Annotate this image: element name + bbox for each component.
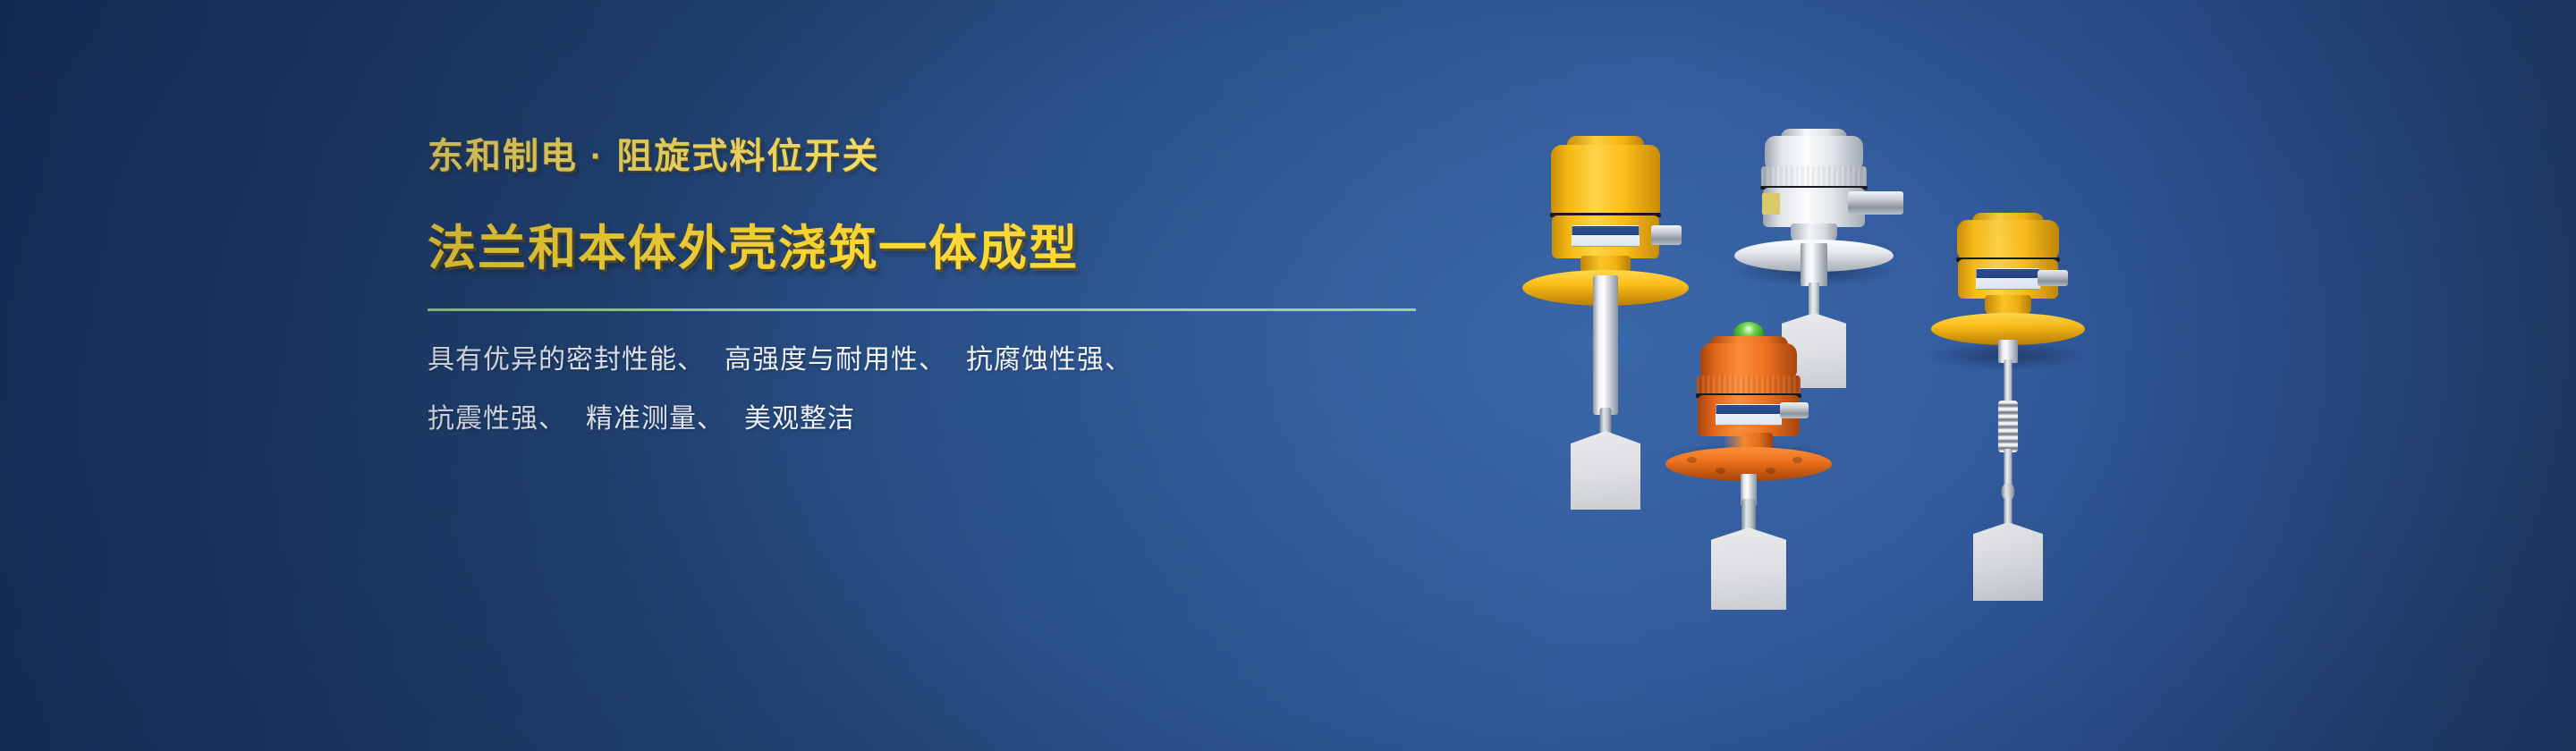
- flange-bolt-hole: [1766, 468, 1775, 474]
- banner-copy-block: 东和制电·阻旋式料位开关 法兰和本体外壳浇筑一体成型 具有优异的密封性能、高强度…: [428, 134, 1465, 433]
- feature-item-strength: 高强度与耐用性、: [724, 345, 946, 375]
- eyebrow-separator-dot: ·: [578, 137, 616, 176]
- housing-body: [1551, 145, 1660, 220]
- banner-feature-list: 具有优异的密封性能、高强度与耐用性、抗腐蚀性强、 抗震性强、精准测量、美观整洁: [428, 347, 1465, 433]
- measuring-paddle: [1973, 522, 2043, 601]
- suspension-cable-upper: [2004, 359, 2012, 406]
- shaft-coupler: [1600, 408, 1612, 435]
- extension-shaft: [1801, 243, 1827, 286]
- conduit-fitting: [1780, 402, 1809, 418]
- brand-name: 东和制电: [428, 137, 578, 176]
- product-rotary-paddle-switch-yellow-spring: [1905, 207, 2111, 690]
- housing-body: [1957, 220, 2059, 261]
- flange-bolt-hole: [1687, 457, 1697, 463]
- feature-item-corrosion: 抗腐蚀性强、: [966, 345, 1132, 375]
- feature-line-2: 抗震性强、精准测量、美观整洁: [428, 406, 1465, 433]
- nameplate-label: [1572, 225, 1640, 247]
- measuring-paddle: [1571, 431, 1640, 510]
- conduit-fitting: [1848, 191, 1903, 215]
- nameplate-label: [1716, 404, 1782, 426]
- product-image-cluster: [1467, 107, 2487, 644]
- headline-divider: [428, 308, 1416, 311]
- flange-bolt-hole: [1716, 468, 1725, 474]
- flange-bolt-hole: [1792, 457, 1802, 463]
- housing-ridge-ring: [1697, 375, 1801, 395]
- product-category-label: 阻旋式料位开关: [616, 137, 879, 176]
- banner-headline: 法兰和本体外壳浇筑一体成型: [428, 220, 1465, 278]
- feature-item-appearance: 美观整洁: [744, 404, 855, 434]
- feature-item-accuracy: 精准测量、: [586, 404, 724, 434]
- conduit-fitting: [2038, 270, 2068, 286]
- housing-ridge-texture: [1697, 375, 1801, 395]
- extension-shaft: [1593, 275, 1618, 415]
- feature-item-shock: 抗震性强、: [428, 404, 566, 434]
- measuring-paddle: [1711, 527, 1786, 610]
- nameplate-label: [1976, 268, 2040, 290]
- feature-line-1: 具有优异的密封性能、高强度与耐用性、抗腐蚀性强、: [428, 347, 1465, 374]
- warning-sticker: [1762, 193, 1780, 215]
- housing-ridge-texture: [1761, 166, 1867, 188]
- product-rotary-paddle-switch-orange-led: [1646, 320, 1851, 660]
- conduit-fitting: [1651, 225, 1682, 245]
- housing-ridge-ring: [1761, 166, 1867, 188]
- spring-section: [1998, 401, 2018, 452]
- feature-item-sealing: 具有优异的密封性能、: [428, 345, 705, 375]
- product-banner: 东和制电·阻旋式料位开关 法兰和本体外壳浇筑一体成型 具有优异的密封性能、高强度…: [0, 0, 2576, 751]
- banner-eyebrow: 东和制电·阻旋式料位开关: [428, 134, 1465, 179]
